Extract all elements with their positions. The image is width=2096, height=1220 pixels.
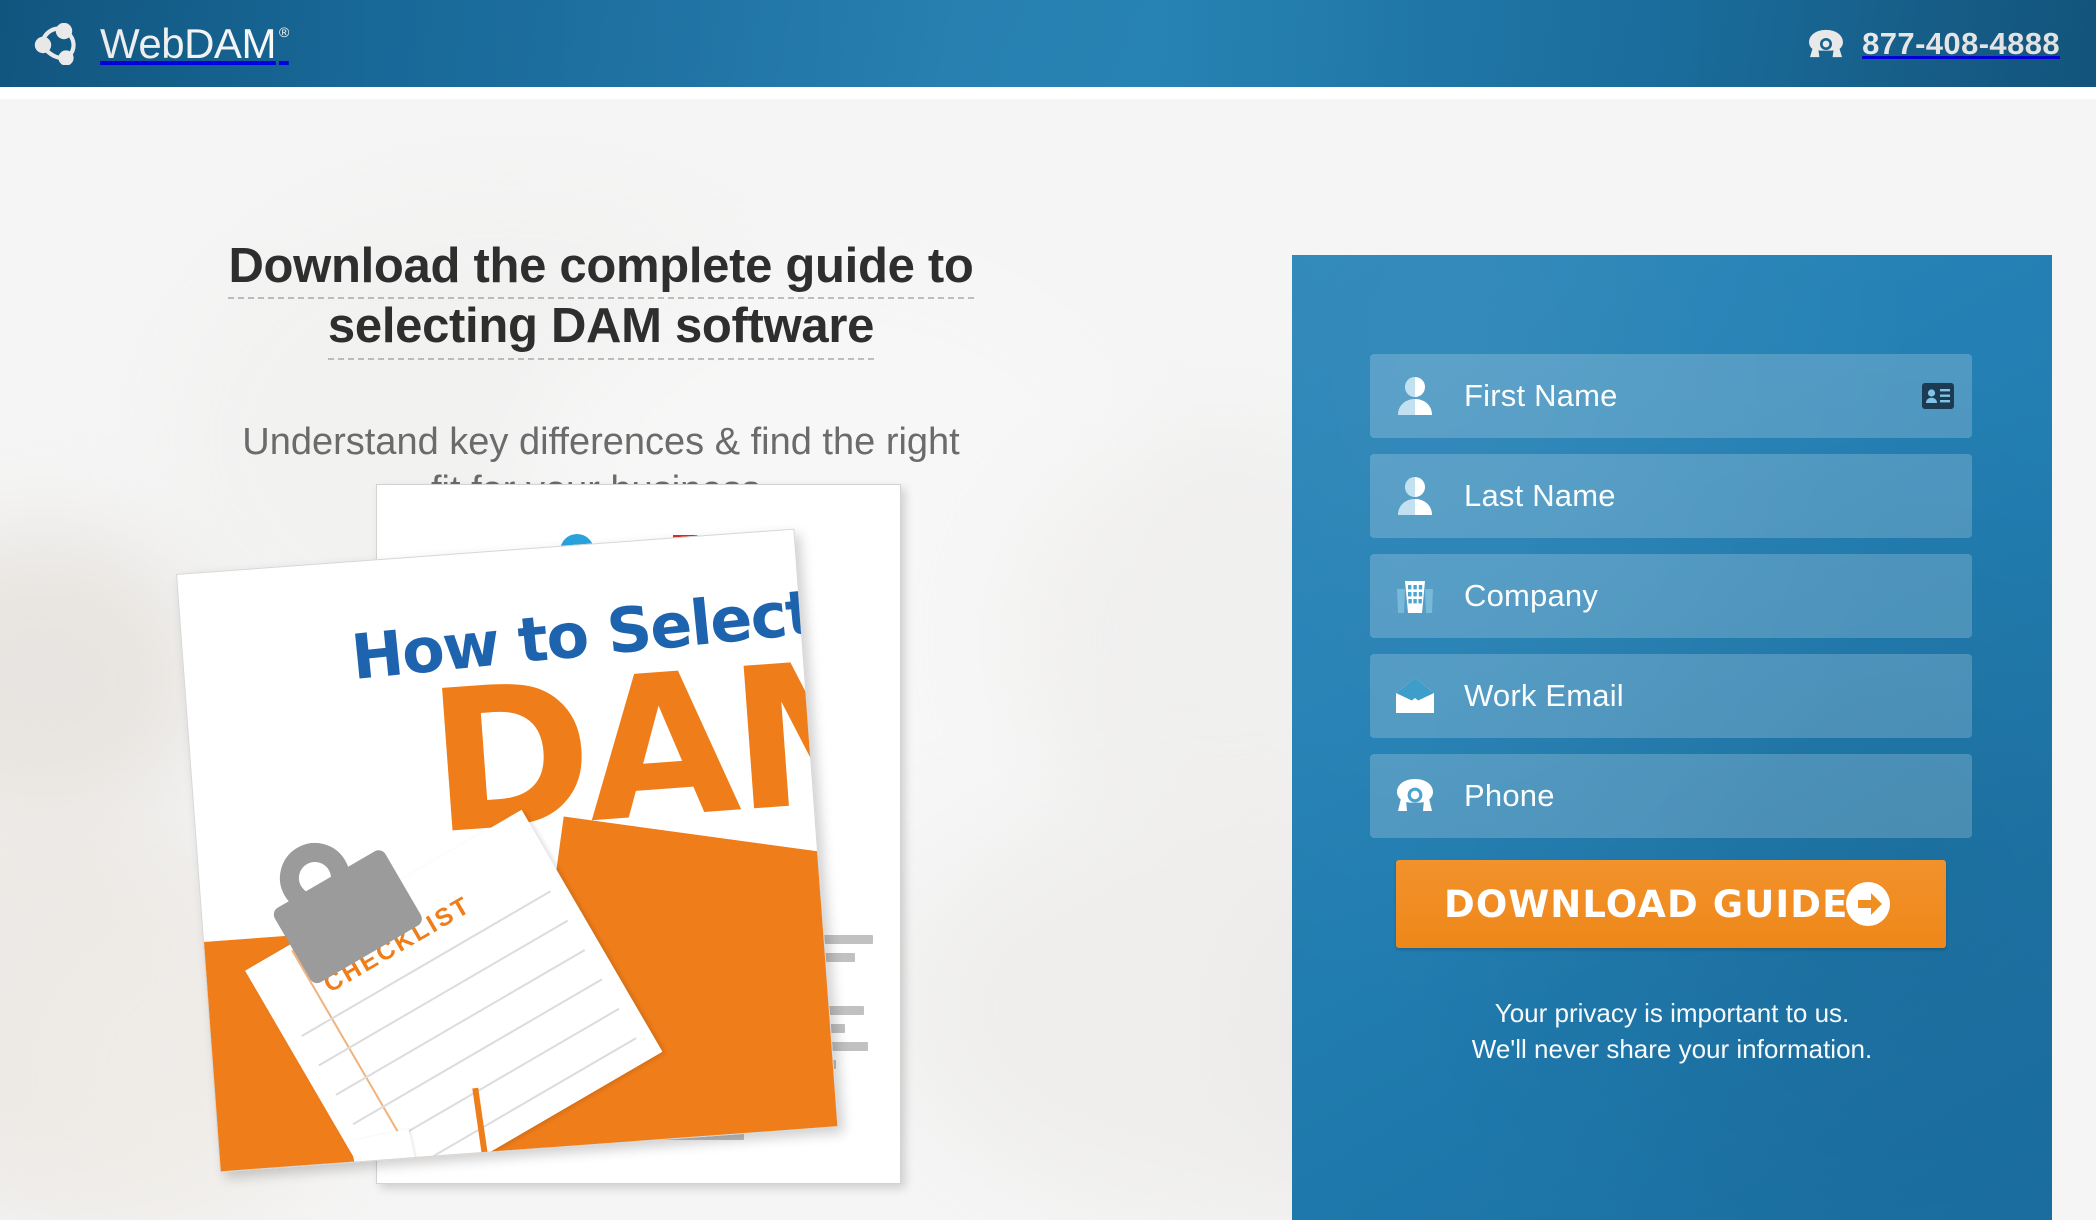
telephone-icon [1392, 773, 1438, 819]
privacy-line-1: Your privacy is important to us. [1495, 998, 1850, 1028]
user-icon [1392, 473, 1438, 519]
telephone-icon [1807, 28, 1845, 60]
field-phone-placeholder: Phone [1464, 778, 1555, 814]
lead-capture-form: First Name [1292, 255, 2052, 1220]
logo-link[interactable]: WebDAM® [34, 0, 289, 87]
privacy-notice: Your privacy is important to us. We'll n… [1292, 995, 2052, 1068]
registered-mark: ® [279, 24, 289, 40]
phone-number: 877-408-4888 [1862, 26, 2060, 62]
subhead-line-1: Understand key differences & find the ri… [242, 421, 960, 463]
headline-line-1: Download the complete guide to [228, 239, 973, 299]
field-first-name[interactable]: First Name [1370, 354, 1972, 438]
ebook-cover: How to Select a DAM CHECKLIST [176, 529, 838, 1173]
field-first-name-placeholder: First Name [1464, 378, 1618, 414]
arrow-right-circle-icon [1844, 880, 1892, 928]
landing-page: WebDAM® 877-408-4888 D [0, 0, 2096, 1220]
ebook-preview-image: How to Select a DAM CHECKLIST [176, 484, 1026, 1204]
header-phone-link[interactable]: 877-408-4888 [1807, 0, 2060, 87]
user-icon [1392, 373, 1438, 419]
building-icon [1392, 573, 1438, 619]
envelope-icon [1392, 673, 1438, 719]
download-guide-button[interactable]: DOWNLOAD GUIDE [1396, 860, 1946, 948]
logo-text: WebDAM® [100, 23, 289, 65]
field-company-placeholder: Company [1464, 578, 1598, 614]
header-divider [0, 87, 2096, 99]
page-title: Download the complete guide to selecting… [96, 239, 1106, 360]
site-header: WebDAM® 877-408-4888 [0, 0, 2096, 87]
field-work-email[interactable]: Work Email [1370, 654, 1972, 738]
field-company[interactable]: Company [1370, 554, 1972, 638]
main-content: Download the complete guide to selecting… [0, 99, 2096, 1220]
contact-card-icon[interactable] [1922, 383, 1954, 409]
field-last-name-placeholder: Last Name [1464, 478, 1616, 514]
field-last-name[interactable]: Last Name [1370, 454, 1972, 538]
privacy-line-2: We'll never share your information. [1472, 1034, 1872, 1064]
field-work-email-placeholder: Work Email [1464, 678, 1624, 714]
field-phone[interactable]: Phone [1370, 754, 1972, 838]
download-guide-label: DOWNLOAD GUIDE [1444, 883, 1848, 926]
headline-line-2: selecting DAM software [328, 299, 874, 359]
share-network-icon [34, 23, 86, 65]
